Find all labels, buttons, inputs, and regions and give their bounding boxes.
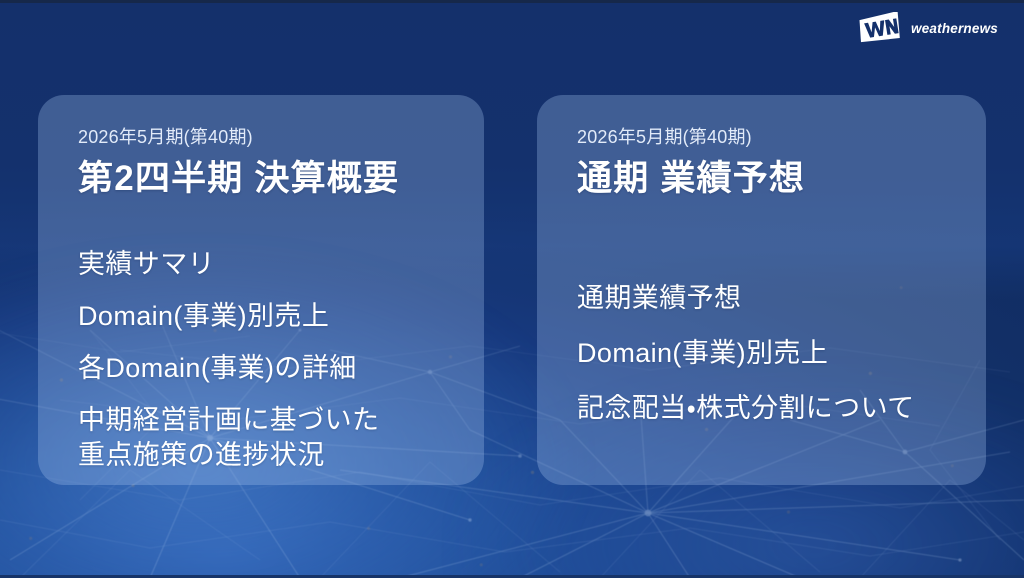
card-subtitle: 2026年5月期(第40期) [78, 127, 484, 149]
list-item: 中期経営計画に基づいた 重点施策の進捗状況 [78, 403, 484, 473]
card-title: 通期 業績予想 [577, 159, 986, 199]
weathernews-logo: weathernews [857, 12, 998, 44]
list-item: 記念配当・株式分割について [577, 391, 986, 426]
top-edge-strip [0, 0, 1024, 3]
card-full-year-forecast: 2026年5月期(第40期) 通期 業績予想 通期業績予想 Domain(事業)… [537, 95, 986, 485]
agenda-list-right: 通期業績予想 Domain(事業)別売上 記念配当・株式分割について [577, 281, 986, 426]
list-item: 各Domain(事業)の詳細 [78, 351, 484, 386]
presentation-slide: weathernews 2026年5月期(第40期) 第2四半期 決算概要 実績… [0, 0, 1024, 578]
card-q2-results-overview: 2026年5月期(第40期) 第2四半期 決算概要 実績サマリ Domain(事… [38, 95, 484, 485]
list-item: 通期業績予想 [577, 281, 986, 316]
logo-wordmark: weathernews [911, 21, 998, 36]
list-item: 実績サマリ [78, 247, 484, 282]
card-title: 第2四半期 決算概要 [78, 159, 484, 199]
list-item: Domain(事業)別売上 [78, 299, 484, 334]
card-subtitle: 2026年5月期(第40期) [577, 127, 986, 149]
wn-logo-mark [857, 12, 903, 44]
list-item: Domain(事業)別売上 [577, 336, 986, 371]
agenda-list-left: 実績サマリ Domain(事業)別売上 各Domain(事業)の詳細 中期経営計… [78, 247, 484, 473]
